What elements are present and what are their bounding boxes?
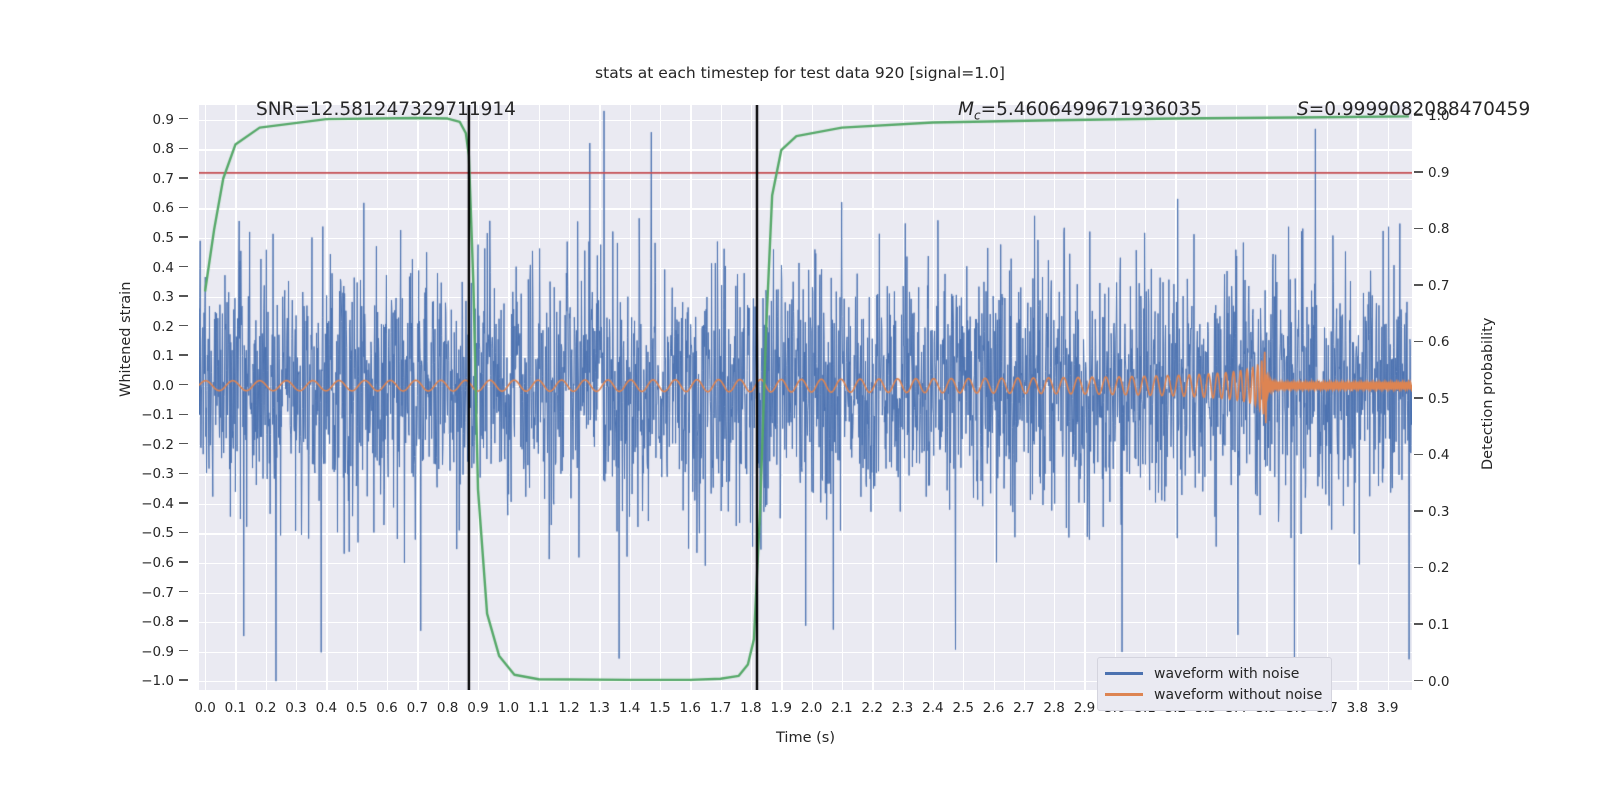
x-tick-label: 1.4 (619, 700, 640, 716)
y-tick-label-left: −0.7 (141, 585, 188, 601)
y-axis-label-left: Whitened strain (118, 282, 134, 397)
x-tick-label: 2.5 (952, 700, 973, 716)
x-tick-label: 3.9 (1377, 700, 1398, 716)
annotation-snr: SNR=12.581247329711914 (256, 99, 516, 120)
x-tick-label: 1.3 (589, 700, 610, 716)
x-tick-label: 0.1 (225, 700, 246, 716)
legend-item: waveform with noise (1105, 663, 1322, 684)
plot-area (199, 105, 1412, 690)
chart-title: stats at each timestep for test data 920… (0, 64, 1600, 82)
x-tick-label: 0.9 (467, 700, 488, 716)
x-tick-label: 0.8 (437, 700, 458, 716)
y-axis-label-right: Detection probability (1480, 318, 1496, 470)
y-tick-label-left: 0.8 (153, 141, 188, 157)
y-tick-label-left: −0.6 (141, 555, 188, 571)
x-tick-label: 2.8 (1043, 700, 1064, 716)
y-tick-label-right: 0.3 (1414, 504, 1449, 520)
y-tick-label-left: −0.9 (141, 644, 188, 660)
x-tick-label: 1.6 (680, 700, 701, 716)
y-tick-label-left: 0.5 (153, 230, 188, 246)
y-tick-label-left: −1.0 (141, 673, 188, 689)
x-tick-label: 0.2 (255, 700, 276, 716)
y-tick-label-right: 0.5 (1414, 391, 1449, 407)
x-tick-label: 0.6 (376, 700, 397, 716)
x-tick-label: 1.2 (558, 700, 579, 716)
y-tick-label-right: 0.0 (1414, 674, 1449, 690)
y-tick-label-right: 0.8 (1414, 221, 1449, 237)
y-tick-label-right: 0.6 (1414, 334, 1449, 350)
x-axis-label: Time (s) (199, 730, 1412, 746)
x-tick-label: 1.5 (649, 700, 670, 716)
y-tick-label-left: 0.7 (153, 171, 188, 187)
annotation-chirp-mass-text: Mc=5.4606499671936035 (958, 99, 1202, 120)
x-tick-label: 2.1 (831, 700, 852, 716)
y-tick-label-left: 0.9 (153, 112, 188, 128)
plot-canvas (199, 105, 1412, 690)
y-tick-label-left: 0.6 (153, 200, 188, 216)
y-tick-label-left: −0.8 (141, 614, 188, 630)
x-tick-label: 0.7 (407, 700, 428, 716)
x-tick-label: 2.0 (801, 700, 822, 716)
figure: stats at each timestep for test data 920… (0, 0, 1600, 800)
y-tick-label-right: 0.9 (1414, 165, 1449, 181)
x-tick-label: 3.8 (1347, 700, 1368, 716)
x-tick-label: 0.0 (194, 700, 215, 716)
y-tick-label-left: 0.2 (153, 319, 188, 335)
x-tick-label: 1.9 (770, 700, 791, 716)
x-tick-label: 1.1 (528, 700, 549, 716)
annotation-score-text: S=0.9999082088470459 (1297, 99, 1530, 120)
x-tick-label: 2.4 (922, 700, 943, 716)
y-tick-label-left: 0.0 (153, 378, 188, 394)
x-tick-label: 1.8 (740, 700, 761, 716)
x-tick-label: 1.7 (710, 700, 731, 716)
y-tick-label-right: 0.4 (1414, 447, 1449, 463)
y-tick-label-left: −0.3 (141, 466, 188, 482)
y-tick-label-left: 0.3 (153, 289, 188, 305)
y-tick-label-left: 0.1 (153, 348, 188, 364)
legend-label: waveform without noise (1154, 687, 1322, 703)
y-tick-label-right: 0.1 (1414, 617, 1449, 633)
x-tick-label: 1.0 (498, 700, 519, 716)
y-tick-label-left: −0.2 (141, 437, 188, 453)
x-tick-label: 2.6 (983, 700, 1004, 716)
legend: waveform with noisewaveform without nois… (1097, 657, 1332, 711)
annotation-snr-text: SNR=12.581247329711914 (256, 99, 516, 120)
y-tick-label-left: 0.4 (153, 260, 188, 276)
y-tick-label-left: −0.1 (141, 407, 188, 423)
y-tick-label-right: 0.2 (1414, 560, 1449, 576)
x-tick-label: 2.9 (1074, 700, 1095, 716)
x-tick-label: 0.5 (346, 700, 367, 716)
x-tick-label: 2.2 (861, 700, 882, 716)
y-tick-label-right: 0.7 (1414, 278, 1449, 294)
y-tick-label-left: −0.4 (141, 496, 188, 512)
annotation-chirp-mass: Mc=5.4606499671936035 (958, 99, 1202, 123)
y-tick-label-left: −0.5 (141, 525, 188, 541)
annotation-score: S=0.9999082088470459 (1297, 99, 1530, 120)
legend-color-swatch (1105, 693, 1143, 695)
legend-color-swatch (1105, 672, 1143, 674)
x-tick-label: 2.7 (1013, 700, 1034, 716)
legend-item: waveform without noise (1105, 684, 1322, 705)
x-tick-label: 0.3 (285, 700, 306, 716)
x-tick-label: 2.3 (892, 700, 913, 716)
x-tick-label: 0.4 (316, 700, 337, 716)
legend-label: waveform with noise (1154, 666, 1299, 682)
